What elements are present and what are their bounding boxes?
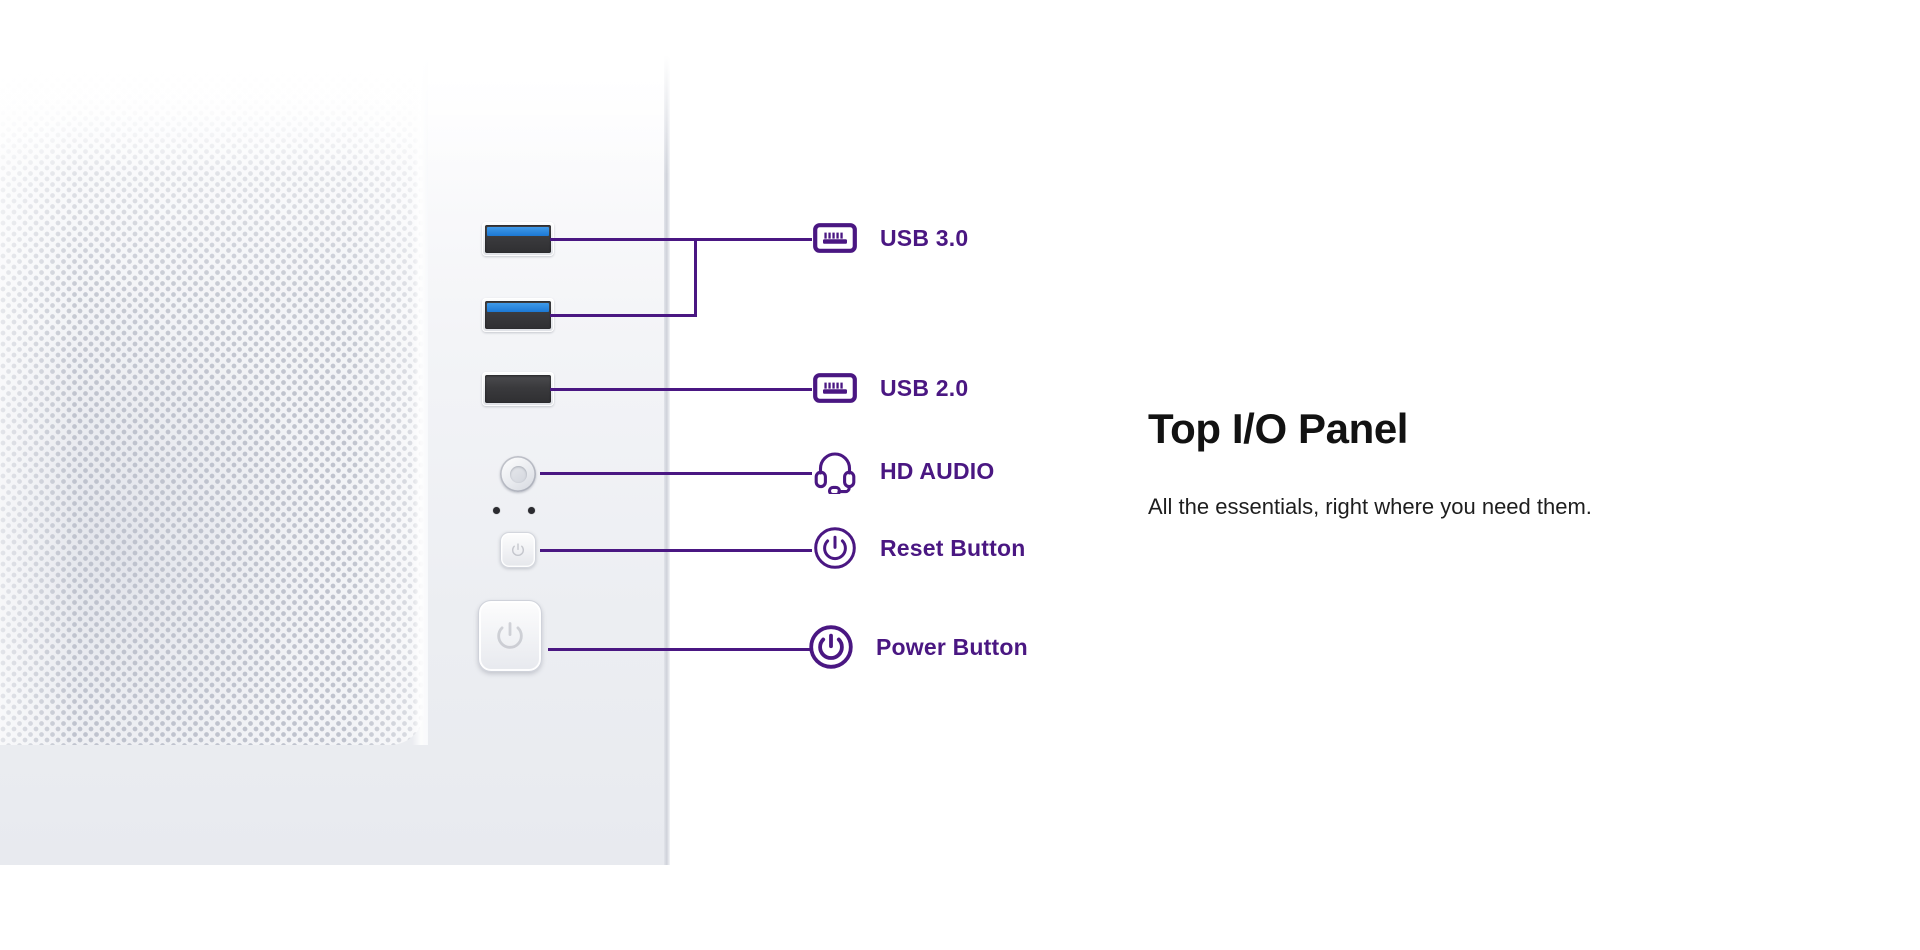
usb-blue-insert [487, 303, 549, 312]
power-circle-icon [812, 525, 858, 571]
callout-label-hd-audio: HD AUDIO [880, 458, 994, 485]
callout-label-reset-button: Reset Button [880, 535, 1026, 562]
headset-icon-svg [813, 448, 857, 494]
reset-button-physical[interactable] [500, 532, 536, 568]
power-button-physical[interactable] [478, 600, 542, 672]
leader-reset [540, 549, 812, 552]
power-circle-icon [808, 624, 854, 670]
callout-usb-2-0[interactable]: USB 2.0 [812, 365, 968, 411]
callout-power-button[interactable]: Power Button [808, 624, 1028, 670]
leader-usb30-bottom [550, 314, 696, 317]
leader-usb30-joiner [694, 238, 697, 317]
headset-icon [812, 448, 858, 494]
status-led-right [528, 507, 535, 514]
callout-label-power-button: Power Button [876, 634, 1028, 661]
leader-power [548, 648, 812, 651]
mesh-fade-left [0, 55, 424, 745]
audio-jack-inner [510, 466, 527, 483]
power-circle-icon-svg [808, 624, 854, 670]
callout-usb-3-0[interactable]: USB 3.0 [812, 215, 968, 261]
callout-label-usb-2-0: USB 2.0 [880, 375, 968, 402]
io-panel-diagram: USB 3.0 USB 2.0 [0, 0, 1920, 950]
mesh-front-panel [0, 55, 424, 745]
usb-cavity [485, 375, 551, 403]
callout-hd-audio[interactable]: HD AUDIO [812, 448, 994, 494]
leader-usb20 [550, 388, 812, 391]
mesh-fade-top [0, 55, 424, 745]
leader-audio [540, 472, 812, 475]
power-glyph-icon [493, 619, 527, 653]
usb-blue-insert [487, 227, 549, 236]
usb-port-icon [812, 215, 858, 261]
status-led-left [493, 507, 500, 514]
info-block: Top I/O Panel All the essentials, right … [1148, 405, 1768, 523]
case-right-edge [664, 55, 670, 865]
usb-3-0-port-bottom[interactable] [482, 298, 554, 332]
usb-port-icon [812, 365, 858, 411]
power-circle-icon-svg [813, 526, 857, 570]
mesh-sheen [0, 55, 424, 745]
page-subtitle: All the essentials, right where you need… [1148, 491, 1768, 523]
leader-usb30-top [550, 238, 696, 241]
usb-cavity [485, 225, 551, 253]
usb-cavity [485, 301, 551, 329]
usb-port-icon-svg [813, 223, 857, 253]
leader-usb30-stem [694, 238, 812, 241]
usb-port-icon-svg [813, 373, 857, 403]
usb-2-0-port[interactable] [482, 372, 554, 406]
usb-3-0-port-top[interactable] [482, 222, 554, 256]
callout-label-usb-3-0: USB 3.0 [880, 225, 968, 252]
page-title: Top I/O Panel [1148, 405, 1768, 453]
audio-jack-port[interactable] [500, 456, 536, 492]
power-glyph-icon [510, 542, 526, 558]
callout-reset-button[interactable]: Reset Button [812, 525, 1026, 571]
